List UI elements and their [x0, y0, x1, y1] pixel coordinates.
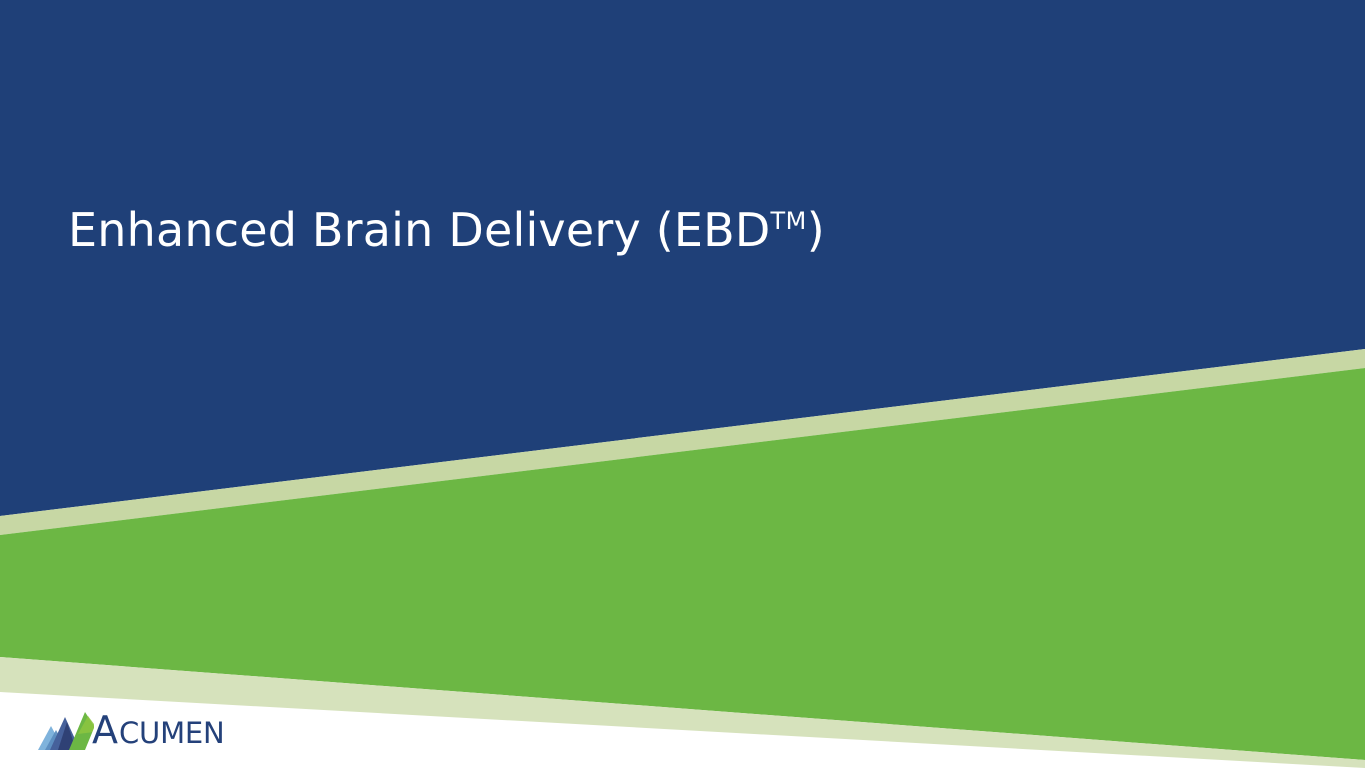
page-title-suffix: ): [807, 203, 825, 257]
acumen-wordmark: A CUMEN: [92, 710, 274, 750]
page-title-main: Enhanced Brain Delivery (EBD: [68, 203, 771, 257]
title-slide: Enhanced Brain Delivery (EBDTM) A CUMEN: [0, 0, 1365, 768]
slide-background: [0, 0, 1365, 768]
svg-text:A: A: [92, 710, 118, 750]
svg-text:CUMEN: CUMEN: [119, 716, 225, 750]
mountain-peaks-icon: [38, 710, 94, 750]
acumen-logo: A CUMEN: [38, 710, 274, 750]
trademark-superscript: TM: [771, 207, 807, 235]
page-title: Enhanced Brain Delivery (EBDTM): [68, 206, 1068, 256]
title-block: Enhanced Brain Delivery (EBDTM): [68, 206, 1068, 256]
